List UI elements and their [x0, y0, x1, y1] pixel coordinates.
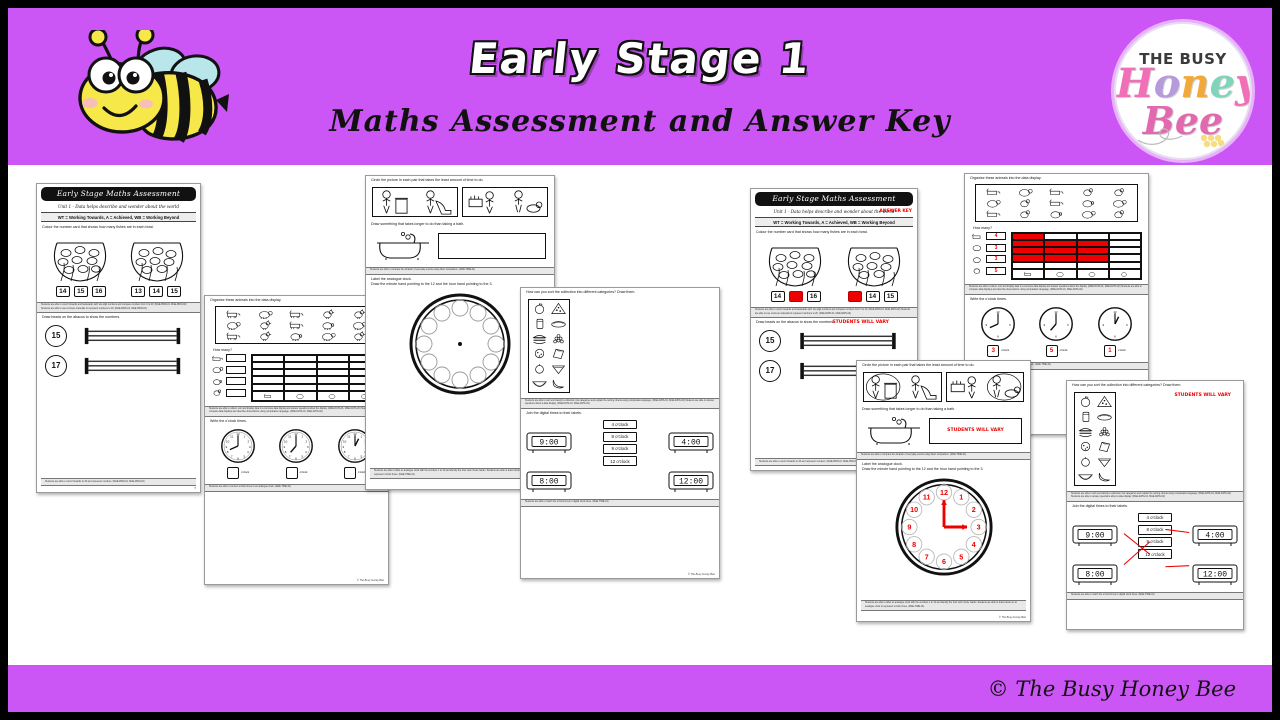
chicken-icon	[313, 309, 344, 319]
preview-canvas: Early Stage 1 Maths Assessment and Answe…	[0, 0, 1280, 720]
bath-drawing-row[interactable]: STUDENTS WILL VARY	[857, 413, 1030, 450]
svg-text:1: 1	[959, 493, 963, 502]
svg-text:5: 5	[360, 454, 362, 458]
count-input[interactable]	[226, 366, 246, 374]
list-item[interactable]: 4	[971, 232, 1006, 241]
svg-text:7: 7	[348, 454, 350, 458]
count-answer[interactable]: 3	[986, 244, 1006, 252]
svg-text:9:00: 9:00	[539, 439, 558, 448]
time-label[interactable]: 9 o'clock	[1138, 537, 1172, 547]
worksheet-page-2[interactable]: Organise these animals into the data dis…	[204, 295, 389, 585]
svg-text:4: 4	[971, 540, 975, 549]
svg-text:11: 11	[289, 434, 292, 438]
svg-text:10: 10	[284, 439, 288, 443]
abacus-row[interactable]: 17	[37, 351, 200, 381]
answer-hint: o'clock	[1001, 349, 1009, 352]
worksheet-legend: WT = Working Towards, A = Achieved, WB =…	[41, 212, 196, 222]
svg-text:9: 9	[907, 523, 911, 532]
students-vary-note: STUDENTS WILL VARY	[1174, 393, 1231, 398]
digital-prompt: Join the digital times to their labels.	[1067, 502, 1243, 510]
vacuum-icon	[415, 188, 457, 216]
cow-icon	[1023, 270, 1034, 278]
count-answer[interactable]: 5	[986, 267, 1006, 275]
svg-text:4:00: 4:00	[681, 439, 700, 448]
count-input[interactable]	[226, 354, 246, 362]
svg-text:6: 6	[997, 334, 999, 338]
cow-icon	[211, 354, 224, 363]
cookie-icon	[531, 347, 548, 360]
labelclock-prompt-1: Label the analogue clock.	[366, 275, 554, 283]
pig-icon	[1073, 198, 1104, 208]
svg-text:5: 5	[302, 454, 304, 458]
number-card[interactable]: 15	[884, 291, 898, 302]
animals-prompt: Organise these animals into the data dis…	[205, 296, 388, 304]
sheep-icon	[1010, 187, 1041, 197]
digital-clock-icon: 9:00	[525, 431, 573, 454]
brand-logo: THE BUSY Honey Bee	[1114, 22, 1252, 160]
number-card[interactable]: 14	[149, 286, 163, 297]
outcome-note: Students are able to compare the duratio…	[366, 267, 554, 275]
svg-text:12:00: 12:00	[1203, 571, 1227, 580]
chicken-icon	[1104, 209, 1135, 219]
fishbowl-icon	[764, 238, 826, 290]
svg-text:7: 7	[289, 454, 291, 458]
number-card-answer[interactable]: 15	[789, 291, 803, 302]
orange-icon	[531, 362, 548, 375]
burger-icon	[531, 332, 548, 345]
cow-icon	[978, 187, 1009, 197]
pair-option-group[interactable]	[462, 187, 548, 217]
data-display-grid-answer[interactable]	[1011, 232, 1142, 280]
svg-text:9: 9	[986, 322, 988, 326]
labelled-analogue-clock-answer-icon[interactable]: 12123 4567 891011	[894, 477, 994, 577]
fishbowl-illustrations	[751, 236, 917, 290]
analogue-clock-icon: 12369	[1038, 306, 1074, 342]
outcome-note: Students are able to match the o'clock t…	[521, 499, 719, 507]
pig-icon	[211, 377, 224, 386]
worksheet-title: Early Stage Maths Assessment	[755, 192, 913, 206]
outcome-note: Students are able to collect, sort and d…	[205, 406, 388, 417]
pig-icon	[313, 320, 344, 330]
list-item[interactable]: o'clock	[344, 467, 366, 479]
number-card-answer[interactable]: 13	[848, 291, 862, 302]
svg-text:2: 2	[306, 439, 308, 443]
answer-hint: o'clock	[1118, 349, 1126, 352]
students-vary-note: STUDENTS WILL VARY	[947, 428, 1004, 433]
list-item[interactable]	[211, 377, 246, 386]
target-number: 15	[759, 330, 781, 352]
sheep-icon	[295, 392, 306, 400]
cow-icon	[281, 309, 312, 319]
labelclock-prompt-1: Label the analogue clock.	[857, 460, 1030, 468]
number-card[interactable]: 15	[167, 286, 181, 297]
count-input[interactable]	[226, 377, 246, 385]
worksheet-unit: Unit 1 - Data helps describe and wonder …	[37, 203, 200, 211]
svg-text:9: 9	[342, 444, 344, 448]
outcome-note: Students are able to match the o'clock t…	[1067, 592, 1243, 600]
how-many-list[interactable]	[211, 354, 246, 402]
food-sort-section[interactable]	[521, 296, 719, 396]
analogue-answer-row[interactable]: o'clock o'clock o'clock	[205, 467, 388, 482]
bath-prompt: Draw something that takes longer to do t…	[366, 220, 554, 228]
svg-text:9:00: 9:00	[1085, 532, 1104, 541]
analogue-clock-icon: 12123 4567 891011	[220, 428, 256, 464]
cookie-icon	[1077, 440, 1094, 453]
page-footer: © The Busy Honey Bee	[688, 573, 715, 576]
list-item[interactable]	[211, 354, 246, 363]
fishbowl-1-options[interactable]: 14 15 16	[56, 286, 106, 297]
time-label[interactable]: 4 o'clock	[1138, 513, 1172, 523]
cow-icon	[971, 232, 984, 241]
food-collection	[1074, 392, 1116, 486]
washing-dishes-icon	[947, 373, 985, 401]
watermelon-icon	[1077, 470, 1094, 483]
svg-text:10: 10	[343, 439, 347, 443]
svg-text:11: 11	[230, 434, 233, 438]
animal-grid	[978, 187, 1135, 219]
cow-icon	[218, 331, 249, 341]
sheep-icon	[211, 365, 224, 374]
svg-text:5: 5	[959, 553, 963, 562]
svg-text:9: 9	[1044, 322, 1046, 326]
list-item[interactable]: o'clock	[286, 467, 308, 479]
pig-icon	[1087, 270, 1098, 278]
foodsort-prompt: How can you sort the collection into dif…	[521, 288, 719, 296]
svg-text:4: 4	[247, 450, 249, 454]
beads-prompt: Draw beads on the abacus to show the num…	[37, 313, 200, 321]
svg-text:9: 9	[1102, 322, 1104, 326]
answer-hint: o'clock	[300, 471, 308, 474]
digital-label-list[interactable]: 4 o'clock 8 o'clock 9 o'clock 12 o'clock	[603, 420, 637, 466]
time-label[interactable]: 9 o'clock	[603, 444, 637, 454]
outcome-note: Students are able to sort and classify a…	[521, 398, 719, 409]
burger-icon	[1077, 425, 1094, 438]
svg-text:8: 8	[227, 450, 229, 454]
blank-analogue-clock-icon[interactable]	[408, 292, 512, 396]
abacus-row[interactable]: 15	[37, 321, 200, 351]
analogue-clock-icon: 12369	[980, 306, 1016, 342]
pig-icon	[281, 331, 312, 341]
food-collection	[528, 299, 570, 393]
time-label[interactable]: 4 o'clock	[603, 420, 637, 430]
svg-text:12: 12	[939, 488, 947, 497]
target-number: 17	[45, 355, 67, 377]
pair-option-group[interactable]	[863, 372, 942, 402]
sheep-icon	[978, 198, 1009, 208]
time-input[interactable]	[344, 467, 356, 479]
foodsort-prompt: How can you sort the collection into dif…	[1067, 381, 1243, 389]
analogue-clock-row: 12123 4567 891011 12123 4567 891011	[205, 425, 388, 467]
food-sort-section[interactable]	[1067, 389, 1243, 489]
bath-prompt: Draw something that takes longer to do t…	[857, 405, 1030, 413]
digital-clock-icon: 8:00	[1071, 563, 1119, 586]
how-many-list[interactable]: 4 3 3 5	[971, 232, 1006, 280]
worksheet-title: Early Stage Maths Assessment	[41, 187, 196, 201]
cow-icon	[263, 392, 274, 400]
time-answer[interactable]: 5	[1046, 345, 1058, 357]
number-card[interactable]: 16	[92, 286, 106, 297]
food-grid	[1077, 395, 1113, 483]
count-input[interactable]	[226, 389, 246, 397]
time-pairs[interactable]	[366, 184, 554, 220]
outcome-note: Students are able to count forwards and …	[751, 307, 917, 318]
chicken-icon	[250, 320, 281, 330]
outcome-note: Students are able to label an analogue c…	[861, 600, 1026, 611]
svg-text:6: 6	[354, 456, 356, 460]
answer-key-badge: ANSWER KEY	[879, 209, 912, 214]
svg-text:3: 3	[249, 444, 251, 448]
sheep-icon	[1073, 209, 1104, 219]
number-card[interactable]: 16	[807, 291, 821, 302]
digital-label-list[interactable]: 4 o'clock 8 o'clock 9 o'clock 12 o'clock	[1138, 513, 1172, 559]
svg-text:2: 2	[248, 439, 250, 443]
page-footer: © The Busy Honey Bee	[999, 616, 1026, 619]
timepairs-prompt: Circle the picture in each pair that tak…	[366, 176, 554, 184]
list-item[interactable]	[211, 365, 246, 374]
how-many-section[interactable]	[205, 352, 388, 404]
fishbowl-2-options[interactable]: 13 14 15	[131, 286, 181, 297]
bath-drawing-row[interactable]	[366, 228, 554, 265]
orange-icon	[1077, 455, 1094, 468]
outcome-note: Students are able to count forwards and …	[37, 302, 200, 313]
answer-circle-icon	[866, 374, 900, 400]
preview-body: Early Stage Maths Assessment Unit 1 - Da…	[8, 165, 1272, 665]
cow-icon	[218, 309, 249, 319]
svg-text:2: 2	[971, 505, 975, 514]
fishbowl-2-options[interactable]: 13 14 15	[848, 291, 898, 302]
time-answer[interactable]: 3	[987, 345, 999, 357]
fishbowl-1-options[interactable]: 14 15 16	[771, 291, 821, 302]
list-item[interactable]: 3o'clock	[987, 345, 1009, 357]
svg-text:8:00: 8:00	[1085, 571, 1104, 580]
list-item[interactable]: o'clock	[227, 467, 249, 479]
analogue-answer-row[interactable]: 3o'clock 5o'clock 1o'clock	[965, 345, 1148, 360]
number-card[interactable]: 14	[771, 291, 785, 302]
number-card[interactable]: 14	[56, 286, 70, 297]
svg-text:3: 3	[307, 444, 309, 448]
target-number: 15	[45, 325, 67, 347]
digital-clock-section[interactable]: 9:00 4 o'clock 8 o'clock 9 o'clock 12 o'…	[521, 417, 719, 497]
data-display-grid[interactable]	[251, 354, 382, 402]
banana-icon	[1096, 470, 1113, 483]
analogue-prompt: Write the o'clock times.	[205, 417, 388, 425]
svg-text:3: 3	[1009, 322, 1011, 326]
fishbowl-prompt: Colour the number card that shows how ma…	[751, 228, 917, 236]
time-input[interactable]	[227, 467, 239, 479]
abacus-icon[interactable]	[73, 357, 192, 375]
fishbowl-prompt: Colour the number card that shows how ma…	[37, 223, 200, 231]
digital-clock-icon: 9:00	[1071, 524, 1119, 547]
svg-text:4:00: 4:00	[1205, 532, 1224, 541]
digital-clock-icon: 8:00	[525, 470, 573, 493]
svg-text:10: 10	[226, 439, 230, 443]
cow-icon	[978, 209, 1009, 219]
chicken-icon	[250, 331, 281, 341]
svg-text:3: 3	[1067, 322, 1069, 326]
svg-text:6: 6	[1114, 334, 1116, 338]
svg-text:11: 11	[922, 493, 930, 502]
number-card[interactable]: 15	[74, 286, 88, 297]
outcome-note: Students are able to compare the duratio…	[857, 452, 1030, 460]
fishbowl-icon	[843, 238, 905, 290]
nachos-icon	[1096, 455, 1113, 468]
time-label[interactable]: 8 o'clock	[603, 432, 637, 442]
count-answer[interactable]: 3	[986, 255, 1006, 263]
time-pairs-answer[interactable]	[857, 369, 1030, 405]
sheep-icon	[1104, 198, 1135, 208]
worksheet-page-1[interactable]: Early Stage Maths Assessment Unit 1 - Da…	[36, 183, 201, 493]
pair-option-group[interactable]	[946, 372, 1025, 402]
animal-collection	[215, 306, 378, 344]
svg-text:12:00: 12:00	[679, 478, 703, 487]
svg-text:1: 1	[244, 434, 246, 438]
fishbowl-icon	[126, 233, 188, 285]
worksheet-page-4[interactable]: How can you sort the collection into dif…	[520, 287, 720, 579]
outcome-note: Students are able to connect o'clock tim…	[205, 484, 388, 492]
pig-icon	[1041, 209, 1072, 219]
digital-clock-icon: 4:00	[1191, 524, 1239, 547]
svg-text:6: 6	[237, 456, 239, 460]
logo-swirl-icon	[1134, 114, 1234, 148]
svg-text:11: 11	[347, 434, 350, 438]
chicken-icon	[1119, 270, 1130, 278]
svg-text:7: 7	[924, 553, 928, 562]
how-many-section[interactable]: 4 3 3 5	[965, 230, 1148, 282]
outcome-note: Students are able to count forwards to 2…	[41, 478, 196, 486]
analogue-clock-row: 12369 12369 12369	[965, 303, 1148, 345]
page-footer: 5	[195, 487, 196, 490]
answer-key-page-3[interactable]: Circle the picture in each pair that tak…	[856, 360, 1031, 622]
svg-text:7: 7	[231, 454, 233, 458]
page-subtitle: Maths Assessment and Answer Key	[8, 104, 1272, 139]
worksheet-legend: WT = Working Towards, A = Achieved, WB =…	[755, 217, 913, 227]
time-label[interactable]: 8 o'clock	[1138, 525, 1172, 535]
washing-dishes-icon	[463, 188, 505, 216]
svg-text:10: 10	[910, 505, 918, 514]
fishbowl-illustrations	[37, 231, 200, 285]
list-item[interactable]: 5	[971, 266, 1006, 275]
chips-icon	[1096, 440, 1113, 453]
drawing-area-answer[interactable]: STUDENTS WILL VARY	[929, 418, 1022, 444]
sheep-icon	[250, 309, 281, 319]
apple-icon	[531, 302, 548, 315]
sheep-icon	[971, 243, 984, 252]
number-card[interactable]: 13	[131, 286, 145, 297]
hotdog-icon	[1096, 410, 1113, 423]
pig-icon	[971, 255, 984, 264]
vacuum-icon	[902, 373, 940, 401]
sheep-icon	[313, 331, 344, 341]
outcome-note: Students are able to collect, sort and d…	[965, 284, 1148, 295]
label-clock-wrap[interactable]: 12123 4567 891011	[857, 473, 1030, 583]
abacus-row[interactable]: 15	[751, 326, 917, 356]
copyright-credit: © The Busy Honey Bee	[988, 677, 1236, 701]
grapes-icon	[1096, 425, 1113, 438]
svg-text:8:00: 8:00	[539, 478, 558, 487]
list-item[interactable]: 3	[971, 255, 1006, 264]
cow-icon	[1041, 198, 1072, 208]
time-answer[interactable]: 1	[1104, 345, 1116, 357]
feeding-dog-icon	[985, 373, 1023, 401]
chicken-icon	[1104, 187, 1135, 197]
pizza-icon	[1096, 395, 1113, 408]
sheep-icon	[1055, 270, 1066, 278]
pig-icon	[327, 392, 338, 400]
pair-option-group[interactable]	[372, 187, 458, 217]
target-number: 17	[759, 360, 781, 382]
rubbish-bin-icon	[373, 188, 415, 216]
drawing-area[interactable]	[438, 233, 546, 259]
svg-text:3: 3	[976, 523, 980, 532]
outcome-note: Students are able to sort and classify a…	[1067, 491, 1243, 502]
analogue-clock-icon: 12369	[1097, 306, 1133, 342]
abacus-icon[interactable]	[73, 327, 192, 345]
digital-clock-icon: 12:00	[1191, 563, 1239, 586]
digital-prompt: Join the digital times to their labels.	[521, 409, 719, 417]
list-item[interactable]	[211, 388, 246, 397]
chicken-icon	[211, 388, 224, 397]
cow-icon	[1041, 187, 1072, 197]
students-vary-note: STUDENTS WILL VARY	[832, 320, 889, 325]
chicken-icon	[1073, 187, 1104, 197]
svg-text:9: 9	[284, 444, 286, 448]
food-grid	[531, 302, 567, 390]
svg-text:5: 5	[244, 454, 246, 458]
grapes-icon	[550, 332, 567, 345]
time-label[interactable]: 12 o'clock	[603, 456, 637, 466]
svg-text:3: 3	[1126, 322, 1128, 326]
page-footer: © The Busy Honey Bee	[357, 579, 384, 582]
svg-text:4: 4	[306, 450, 308, 454]
svg-text:6: 6	[296, 456, 298, 460]
svg-text:6: 6	[1056, 334, 1058, 338]
list-item[interactable]: 1o'clock	[1104, 345, 1126, 357]
count-answer[interactable]: 4	[986, 232, 1006, 240]
list-item[interactable]: 5o'clock	[1046, 345, 1068, 357]
number-card[interactable]: 14	[866, 291, 880, 302]
list-item[interactable]: 3	[971, 243, 1006, 252]
digital-clock-section-answer[interactable]: 9:00 4 o'clock 8 o'clock 9 o'clock 12 o'…	[1067, 510, 1243, 590]
fishbowl-answer-options[interactable]: 14 15 16 13 14 15	[37, 285, 200, 300]
animal-grid	[218, 309, 375, 341]
answer-key-page-4[interactable]: How can you sort the collection into dif…	[1066, 380, 1244, 630]
animal-collection	[975, 184, 1138, 222]
analogue-clock-icon: 12123 4567 891011	[278, 428, 314, 464]
footer-band: © The Busy Honey Bee	[8, 665, 1272, 712]
abacus-icon[interactable]	[787, 332, 909, 350]
svg-text:8: 8	[285, 450, 287, 454]
fishbowl-icon	[49, 233, 111, 285]
timepairs-prompt: Circle the picture in each pair that tak…	[857, 361, 1030, 369]
sheep-icon	[218, 320, 249, 330]
feeding-dog-icon	[505, 188, 547, 216]
nachos-icon	[550, 362, 567, 375]
time-label[interactable]: 12 o'clock	[1138, 549, 1172, 559]
time-input[interactable]	[286, 467, 298, 479]
banana-icon	[550, 377, 567, 390]
svg-text:8: 8	[344, 450, 346, 454]
bathtub-icon	[865, 416, 923, 446]
hotdog-icon	[550, 317, 567, 330]
can-icon	[531, 317, 548, 330]
rubbish-bin-icon	[864, 373, 902, 401]
digital-clock-icon: 12:00	[667, 470, 715, 493]
chicken-icon	[1010, 198, 1041, 208]
can-icon	[1077, 410, 1094, 423]
fishbowl-answer-options[interactable]: 14 15 16 13 14 15	[751, 290, 917, 305]
svg-text:9: 9	[226, 444, 228, 448]
svg-text:6: 6	[941, 557, 945, 566]
